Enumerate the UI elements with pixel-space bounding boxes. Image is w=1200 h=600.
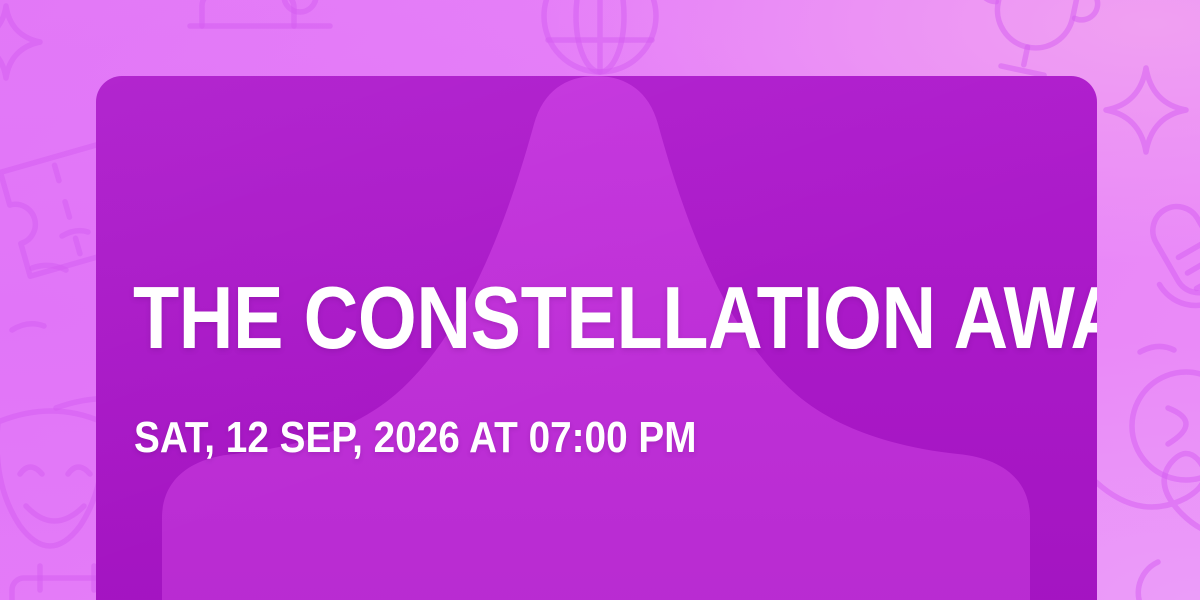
sparkle-icon [1106,68,1186,152]
microphone-icon [1132,372,1200,480]
event-banner: THE CONSTELLATION AWARDS SAT, 12 SEP, 20… [0,0,1200,600]
microphone-icon [1128,189,1200,344]
page-title: THE CONSTELLATION AWARDS [133,274,1097,362]
event-datetime: SAT, 12 SEP, 2026 AT 07:00 PM [134,416,696,460]
event-card: THE CONSTELLATION AWARDS SAT, 12 SEP, 20… [96,76,1097,600]
card-content: THE CONSTELLATION AWARDS SAT, 12 SEP, 20… [133,76,1063,600]
trophy-icon [964,0,1101,83]
globe-icon [544,0,656,72]
audio-cable-icon [1096,453,1200,600]
sparkle-icon [0,6,40,78]
stage-lights-icon [190,0,330,26]
